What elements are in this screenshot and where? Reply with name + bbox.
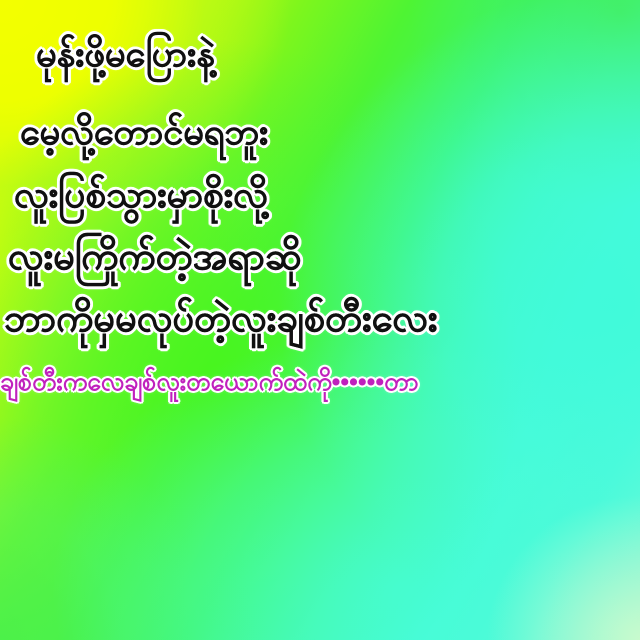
caption-line-2: မေ့လို့တောင်မရဘူး — [20, 114, 268, 150]
caption-line-3: လူးပြစ်သွားမှာစိုးလို့ — [14, 176, 268, 213]
caption-text-block: မုန်းဖို့မပြေားနဲ့ မေ့လို့တောင်မရဘူး လူး… — [0, 0, 640, 640]
caption-line-5: ဘာကိုမှမလုပ်တဲ့လူးချစ်တီးလေး — [4, 300, 438, 338]
caption-line-6-accent: ချစ်တီးကလေချစ်လူးတယောက်ထဲကို••••••တာ — [0, 370, 419, 395]
caption-line-4: လူးမကြိုက်တဲ့အရာဆို — [8, 238, 302, 276]
caption-line-1: မုန်းဖို့မပြေားနဲ့ — [36, 36, 215, 72]
image-canvas: မုန်းဖို့မပြေားနဲ့ မေ့လို့တောင်မရဘူး လူး… — [0, 0, 640, 640]
